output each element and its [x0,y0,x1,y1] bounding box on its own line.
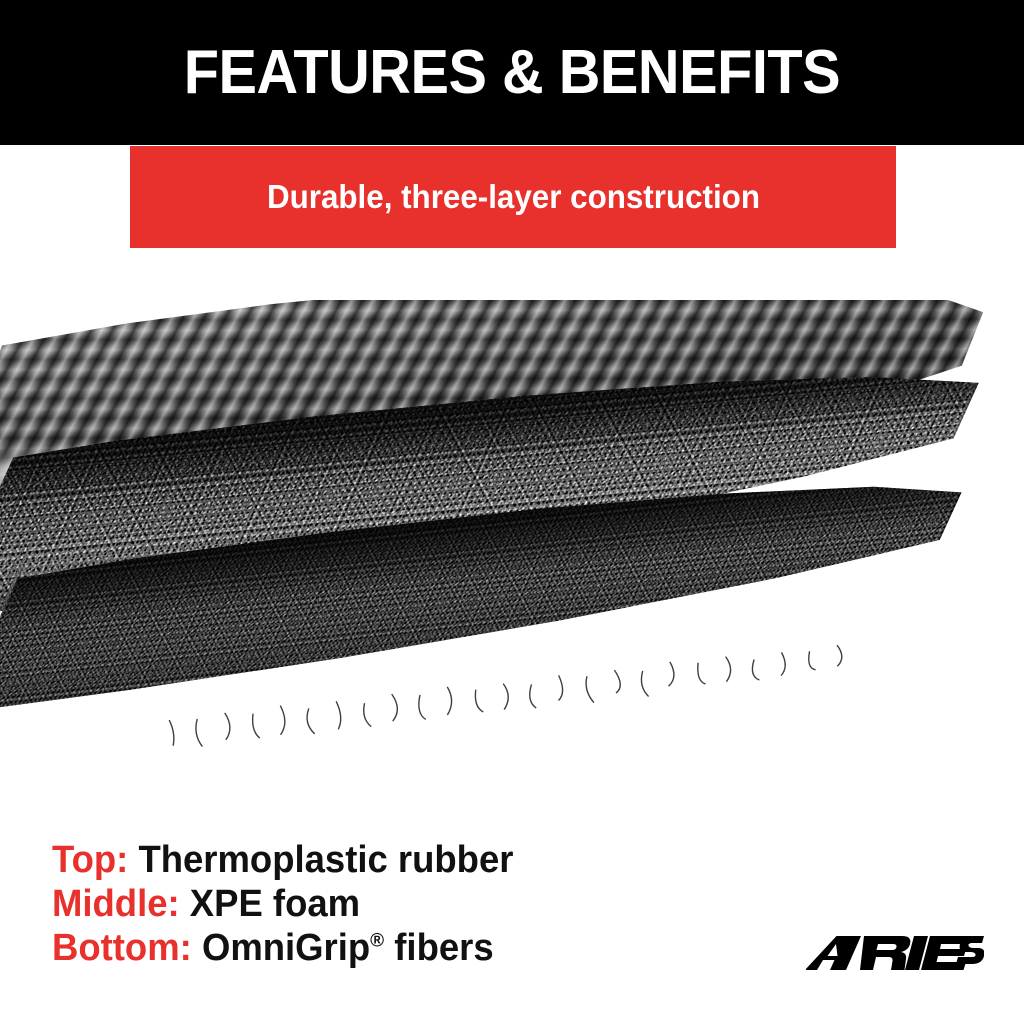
registered-trademark-icon: ® [370,929,384,951]
caption-value-middle: XPE foam [190,883,360,925]
caption-key-bottom: Bottom: [52,927,192,969]
caption-value-bottom-brand: OmniGrip [202,927,370,969]
aries-logo: ® [806,930,984,976]
subtitle-text: Durable, three-layer construction [266,180,759,214]
caption-value-bottom-suffix: fibers [384,927,493,969]
caption-value-top: Thermoplastic rubber [138,839,513,881]
caption-row-bottom: Bottom: OmniGrip® fibers [52,926,647,970]
subtitle-banner: Durable, three-layer construction [130,146,896,248]
caption-row-top: Top: Thermoplastic rubber [52,838,647,882]
product-image [0,300,1024,800]
caption-row-middle: Middle: XPE foam [52,882,647,926]
caption-list: Top: Thermoplastic rubber Middle: XPE fo… [52,838,672,970]
page-title: FEATURES & BENEFITS [184,42,840,104]
caption-key-middle: Middle: [52,883,180,925]
svg-text:®: ® [976,937,982,945]
header-bar: FEATURES & BENEFITS [0,0,1024,145]
caption-key-top: Top: [52,839,128,881]
